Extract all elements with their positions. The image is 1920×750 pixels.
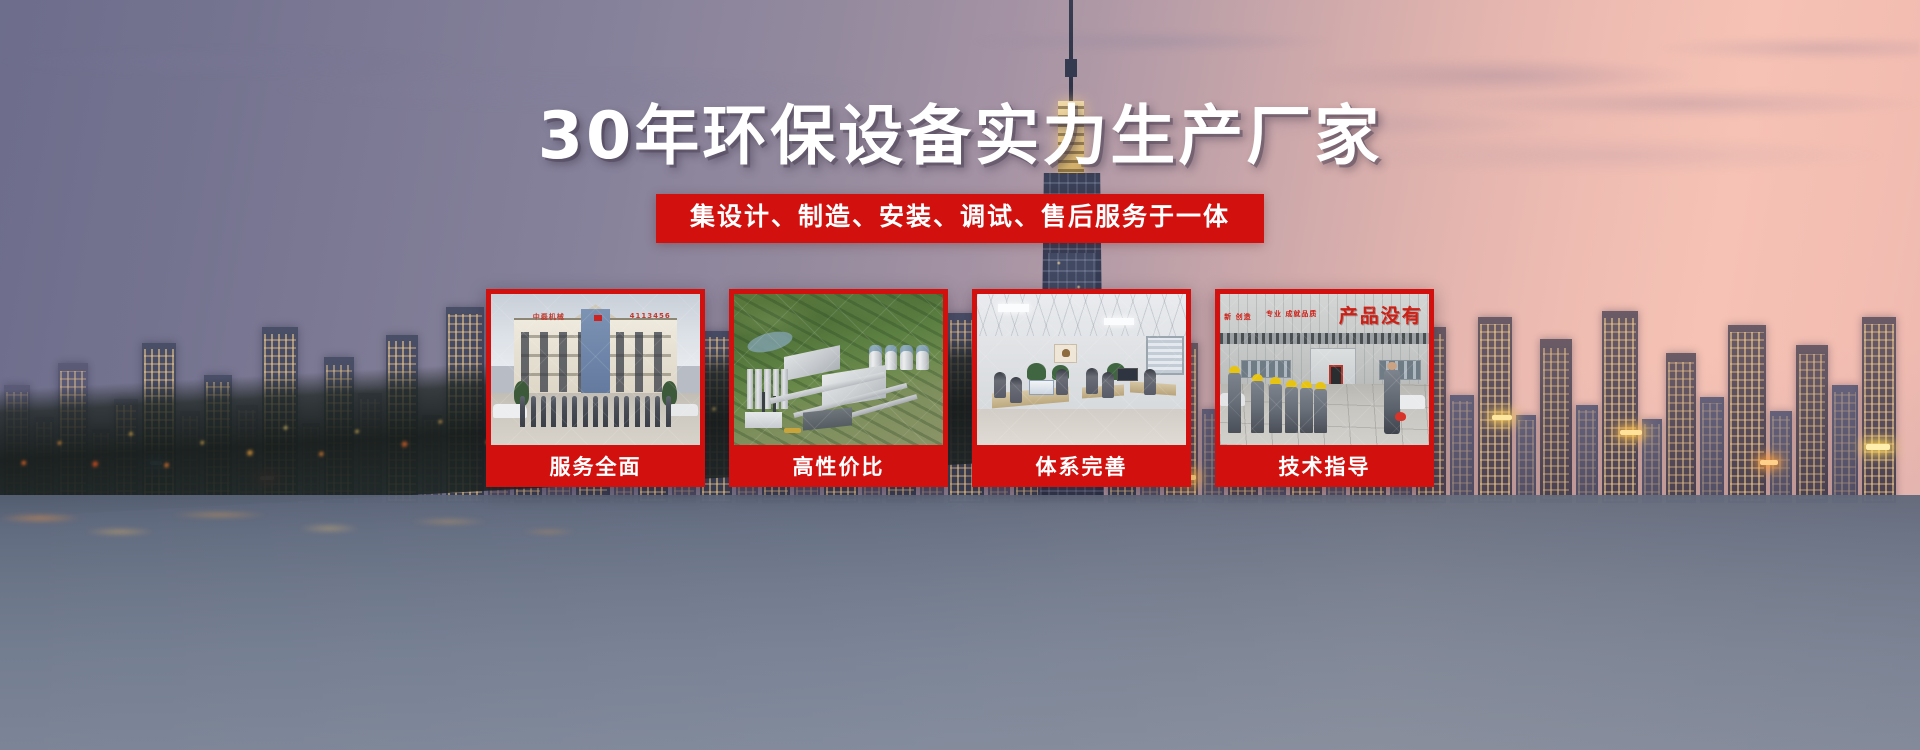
factory-wall-slogan-left: 新 创造 [1224, 313, 1251, 322]
factory-wall-banner: 产品没有 [1339, 301, 1423, 328]
card-label: 体系完善 [977, 445, 1186, 487]
staff-row [520, 396, 671, 426]
subtitle-banner: 集设计、制造、安装、调试、售后服务于一体 [656, 194, 1264, 243]
page-title: 30年环保设备实力生产厂家 [538, 104, 1382, 169]
card-photo-plant-aerial [734, 294, 943, 445]
card-label: 技术指导 [1220, 445, 1429, 487]
feature-card[interactable]: 产品没有 新 创造 专业 成就品质 [1215, 289, 1434, 487]
card-label: 高性价比 [734, 445, 943, 487]
office-staff [977, 294, 1186, 445]
card-photo-office-interior [977, 294, 1186, 445]
worker-group [1226, 366, 1335, 432]
building-sign-phone: 4113456 [630, 312, 671, 320]
flag-icon [594, 315, 602, 321]
banner-content: 30年环保设备实力生产厂家 集设计、制造、安装、调试、售后服务于一体 中磊机械 … [0, 0, 1920, 750]
card-label: 服务全面 [491, 445, 700, 487]
feature-card[interactable]: 体系完善 [972, 289, 1191, 487]
factory-wall-slogan-right: 专业 成就品质 [1266, 310, 1317, 319]
card-photo-headquarters: 中磊机械 4113456 [491, 294, 700, 445]
hero-banner: 30年环保设备实力生产厂家 集设计、制造、安装、调试、售后服务于一体 中磊机械 … [0, 0, 1920, 750]
feature-card[interactable]: 高性价比 [729, 289, 948, 487]
feature-card-list: 中磊机械 4113456 服务全面 [486, 289, 1434, 487]
card-photo-factory-workers: 产品没有 新 创造 专业 成就品质 [1220, 294, 1429, 445]
building-sign-name: 中磊机械 [533, 312, 565, 322]
feature-card[interactable]: 中磊机械 4113456 服务全面 [486, 289, 705, 487]
supervisor [1384, 362, 1400, 434]
red-helmet-icon [1395, 412, 1406, 421]
